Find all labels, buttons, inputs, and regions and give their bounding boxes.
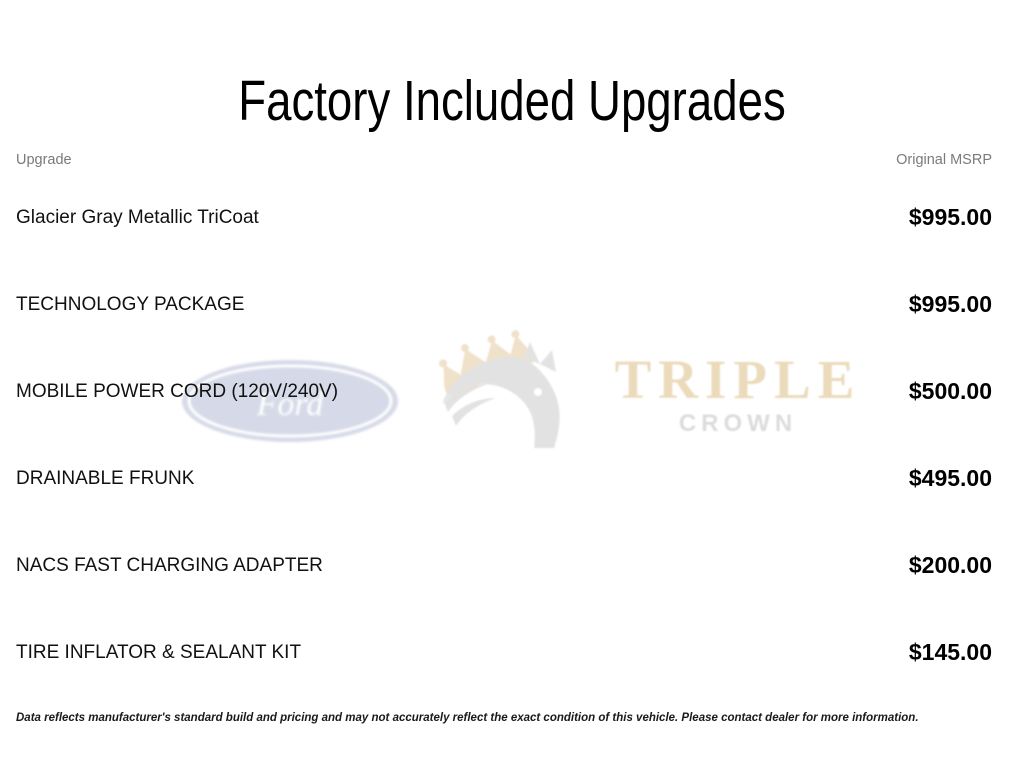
table-header-row: Upgrade Original MSRP: [16, 152, 992, 174]
upgrade-price: $145.00: [504, 609, 992, 696]
table-row: Glacier Gray Metallic TriCoat $995.00: [16, 174, 992, 261]
table-body: Glacier Gray Metallic TriCoat $995.00 TE…: [16, 174, 992, 696]
upgrade-price: $495.00: [504, 435, 992, 522]
table-row: TIRE INFLATOR & SEALANT KIT $145.00: [16, 609, 992, 696]
upgrade-name: MOBILE POWER CORD (120V/240V): [16, 348, 504, 435]
upgrade-name: Glacier Gray Metallic TriCoat: [16, 174, 504, 261]
upgrade-price: $200.00: [504, 522, 992, 609]
upgrades-page: Ford TRIPLE CROWN: [0, 0, 1024, 768]
upgrade-name: TECHNOLOGY PACKAGE: [16, 261, 504, 348]
upgrades-table: Upgrade Original MSRP Glacier Gray Metal…: [16, 152, 992, 696]
column-header-msrp: Original MSRP: [504, 152, 992, 174]
table-header: Upgrade Original MSRP: [16, 152, 992, 174]
table-row: DRAINABLE FRUNK $495.00: [16, 435, 992, 522]
upgrade-name: NACS FAST CHARGING ADAPTER: [16, 522, 504, 609]
upgrade-name: DRAINABLE FRUNK: [16, 435, 504, 522]
upgrade-price: $500.00: [504, 348, 992, 435]
table-row: NACS FAST CHARGING ADAPTER $200.00: [16, 522, 992, 609]
column-header-upgrade: Upgrade: [16, 152, 504, 174]
table-row: MOBILE POWER CORD (120V/240V) $500.00: [16, 348, 992, 435]
page-title: Factory Included Upgrades: [102, 72, 921, 132]
upgrade-name: TIRE INFLATOR & SEALANT KIT: [16, 609, 504, 696]
upgrade-price: $995.00: [504, 261, 992, 348]
upgrades-table-container: Upgrade Original MSRP Glacier Gray Metal…: [16, 152, 992, 696]
table-row: TECHNOLOGY PACKAGE $995.00: [16, 261, 992, 348]
disclaimer-text: Data reflects manufacturer's standard bu…: [16, 711, 1006, 725]
content-layer: Factory Included Upgrades Upgrade Origin…: [0, 0, 1024, 768]
upgrade-price: $995.00: [504, 174, 992, 261]
